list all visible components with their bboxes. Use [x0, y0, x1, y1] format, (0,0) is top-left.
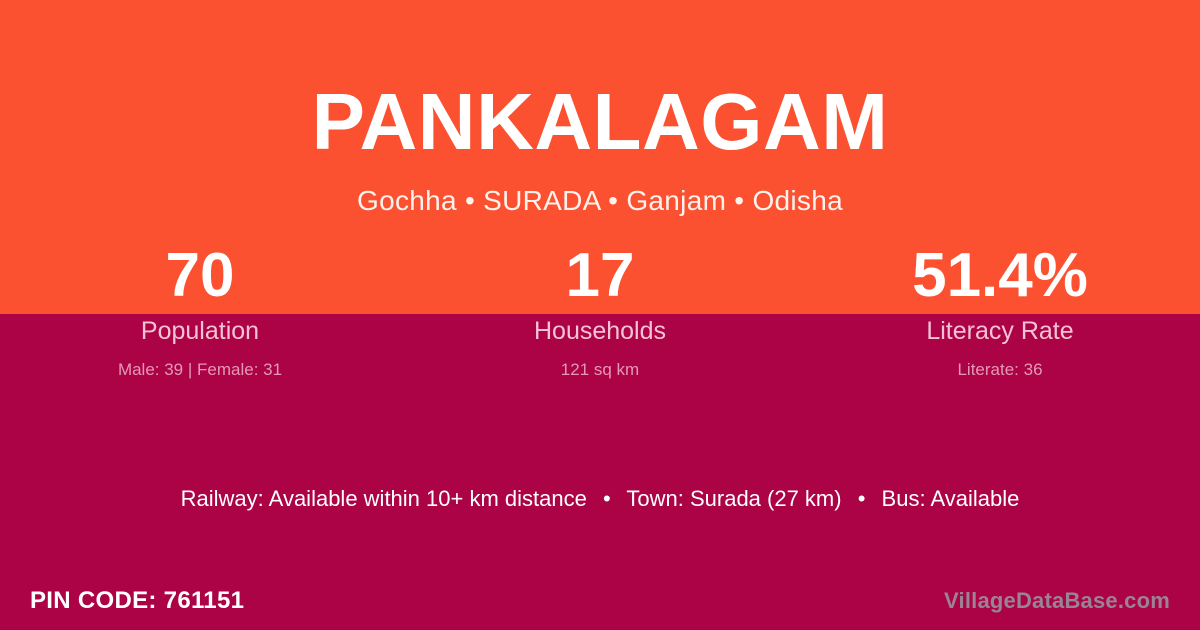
stat-sublabel: Male: 39 | Female: 31 [0, 344, 400, 378]
amenity-separator-icon: • [848, 486, 876, 511]
stat-literacy-rate: 51.4% Literacy Rate Literate: 36 [800, 245, 1200, 378]
site-brand-logo: VillageDataBase.com [944, 588, 1170, 614]
amenity-separator-icon: • [593, 486, 621, 511]
pin-code-label: PIN CODE: 761151 [30, 587, 244, 615]
stat-households: 17 Households 121 sq km [400, 245, 800, 378]
stat-sublabel: 121 sq km [400, 344, 800, 378]
village-info-card: PANKALAGAM Gochha • SURADA • Ganjam • Od… [0, 0, 1200, 630]
stat-label: Literacy Rate [800, 314, 1200, 344]
stat-value: 70 [0, 245, 400, 314]
amenity-railway: Railway: Available within 10+ km distanc… [181, 486, 587, 511]
stat-label: Households [400, 314, 800, 344]
stats-row: 70 Population Male: 39 | Female: 31 17 H… [0, 245, 1200, 378]
stat-sublabel: Literate: 36 [800, 344, 1200, 378]
page-title: PANKALAGAM [0, 82, 1200, 162]
stat-value: 17 [400, 245, 800, 314]
card-footer: PIN CODE: 761151 VillageDataBase.com [0, 572, 1200, 630]
stat-population: 70 Population Male: 39 | Female: 31 [0, 245, 400, 378]
amenity-bus: Bus: Available [882, 486, 1020, 511]
stat-value: 51.4% [800, 245, 1200, 314]
amenities-line: Railway: Available within 10+ km distanc… [0, 486, 1200, 512]
amenity-town: Town: Surada (27 km) [626, 486, 841, 511]
stat-label: Population [0, 314, 400, 344]
breadcrumb: Gochha • SURADA • Ganjam • Odisha [0, 183, 1200, 218]
